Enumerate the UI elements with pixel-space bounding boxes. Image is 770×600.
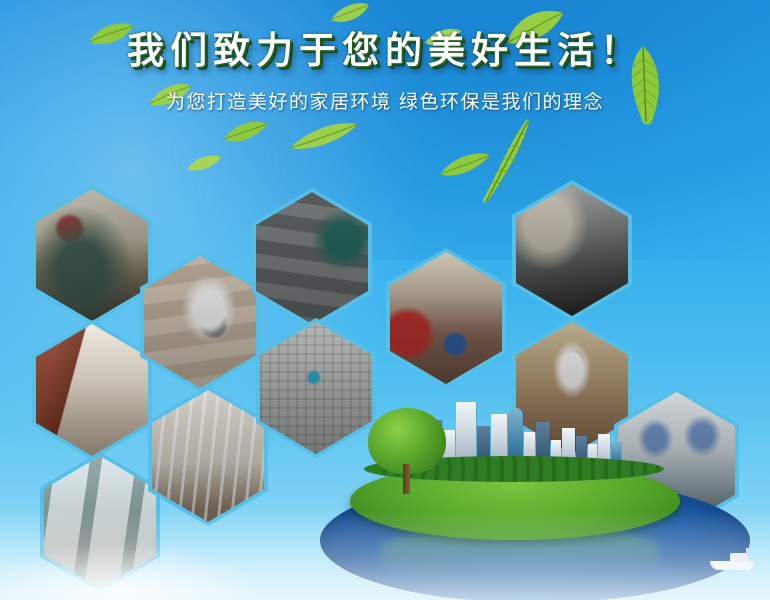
photo-hex-range-hood-cleaning[interactable]	[512, 180, 632, 320]
banner-canvas: 我们致力于您的美好生活！ 为您打造美好的家居环境 绿色环保是我们的理念	[0, 0, 770, 600]
photo-hex-handrail-painting[interactable]	[32, 320, 152, 460]
large-tree	[368, 408, 446, 494]
small-boat	[710, 552, 754, 570]
tree-trunk	[403, 464, 410, 494]
photo-demolition-worker	[36, 189, 148, 321]
photo-range-hood-cleaning	[516, 184, 628, 316]
photo-exterior-building	[44, 456, 156, 588]
photo-hex-demolition-worker[interactable]	[32, 185, 152, 325]
photo-handrail-painting	[36, 324, 148, 456]
photo-stairs-mopping	[144, 256, 256, 388]
banner-title: 我们致力于您的美好生活！	[0, 30, 770, 73]
boat-mast	[746, 548, 748, 556]
photo-hex-duct-cleaning[interactable]	[252, 188, 372, 328]
photo-hex-exterior-building[interactable]	[40, 452, 160, 592]
banner-subtitle: 为您打造美好的家居环境 绿色环保是我们的理念	[0, 87, 770, 114]
photo-hex-carpet-shampooing[interactable]	[386, 248, 506, 388]
banner-headings: 我们致力于您的美好生活！ 为您打造美好的家居环境 绿色环保是我们的理念	[0, 30, 770, 114]
photo-chandelier-cleaning	[152, 390, 264, 522]
floating-island-scene	[320, 400, 770, 600]
boat-hull	[710, 561, 754, 570]
photo-duct-cleaning	[256, 192, 368, 324]
photo-carpet-shampooing	[390, 252, 502, 384]
photo-hex-stairs-mopping[interactable]	[140, 252, 260, 392]
photo-hex-chandelier-cleaning[interactable]	[148, 386, 268, 526]
